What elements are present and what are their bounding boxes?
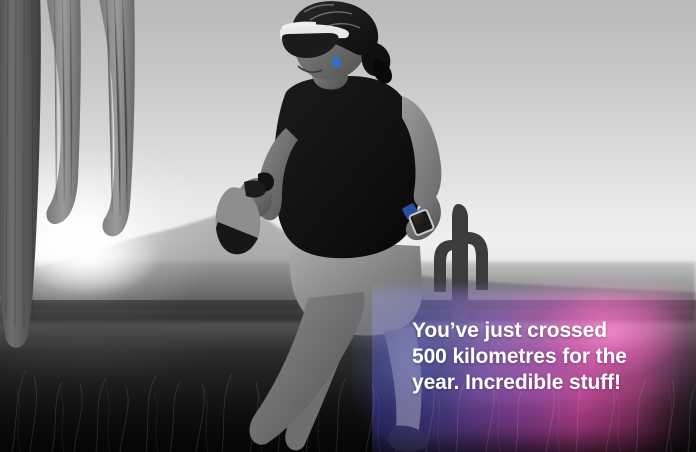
notification-card: You’ve just crossed 500 kilometres for t… [0,0,696,452]
saguaro-cactus [0,0,174,370]
headline-message: You’ve just crossed 500 kilometres for t… [412,318,674,396]
earbud-accent [333,57,340,67]
